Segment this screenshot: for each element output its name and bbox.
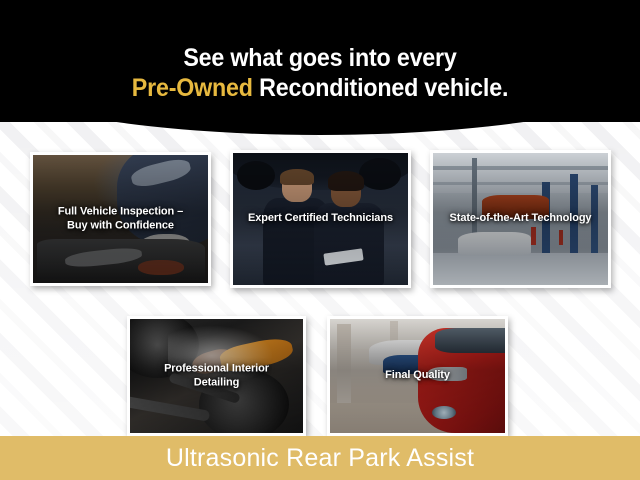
card-label-line-1: Full Vehicle Inspection – (38, 205, 203, 219)
card-image-state-of-the-art-technology: State-of-the-Art Technology (433, 153, 608, 285)
headline-gold-text: Pre-Owned (132, 74, 253, 102)
card-label-final-quality: Final Quality (330, 369, 505, 383)
card-label-professional-interior-detailing: Professional Interior Detailing (130, 362, 303, 390)
card-label-line-2: Detailing (135, 376, 298, 390)
card-label-line-2: Buy with Confidence (38, 219, 203, 233)
card-image-expert-certified-technicians: Expert Certified Technicians (233, 153, 408, 285)
card-label-line-1: Expert Certified Technicians (238, 212, 403, 226)
page-headline: See what goes into every Pre-Owned Recon… (22, 44, 617, 103)
card-professional-interior-detailing[interactable]: Professional Interior Detailing (127, 316, 306, 436)
card-image-final-quality: Final Quality (330, 319, 505, 433)
card-expert-certified-technicians[interactable]: Expert Certified Technicians (230, 150, 411, 288)
headline-line-2: Pre-Owned Reconditioned vehicle. (22, 74, 617, 104)
card-label-full-vehicle-inspection: Full Vehicle Inspection – Buy with Confi… (33, 205, 208, 233)
card-label-expert-certified-technicians: Expert Certified Technicians (233, 212, 408, 226)
card-label-state-of-the-art-technology: State-of-the-Art Technology (433, 212, 608, 226)
footer-caption-text: Ultrasonic Rear Park Assist (166, 444, 474, 473)
card-full-vehicle-inspection[interactable]: Full Vehicle Inspection – Buy with Confi… (30, 152, 211, 286)
card-state-of-the-art-technology[interactable]: State-of-the-Art Technology (430, 150, 611, 288)
card-label-line-1: Final Quality (335, 369, 500, 383)
headline-line-2-rest: Reconditioned vehicle. (253, 74, 508, 102)
card-image-professional-interior-detailing: Professional Interior Detailing (130, 319, 303, 433)
vehicle-reconditioning-infographic: See what goes into every Pre-Owned Recon… (0, 0, 640, 480)
card-label-line-1: Professional Interior (135, 362, 298, 376)
card-final-quality[interactable]: Final Quality (327, 316, 508, 436)
headline-line-1: See what goes into every (22, 44, 617, 74)
card-image-full-vehicle-inspection: Full Vehicle Inspection – Buy with Confi… (33, 155, 208, 283)
footer-caption-band: Ultrasonic Rear Park Assist (0, 436, 640, 480)
card-label-line-1: State-of-the-Art Technology (438, 212, 603, 226)
